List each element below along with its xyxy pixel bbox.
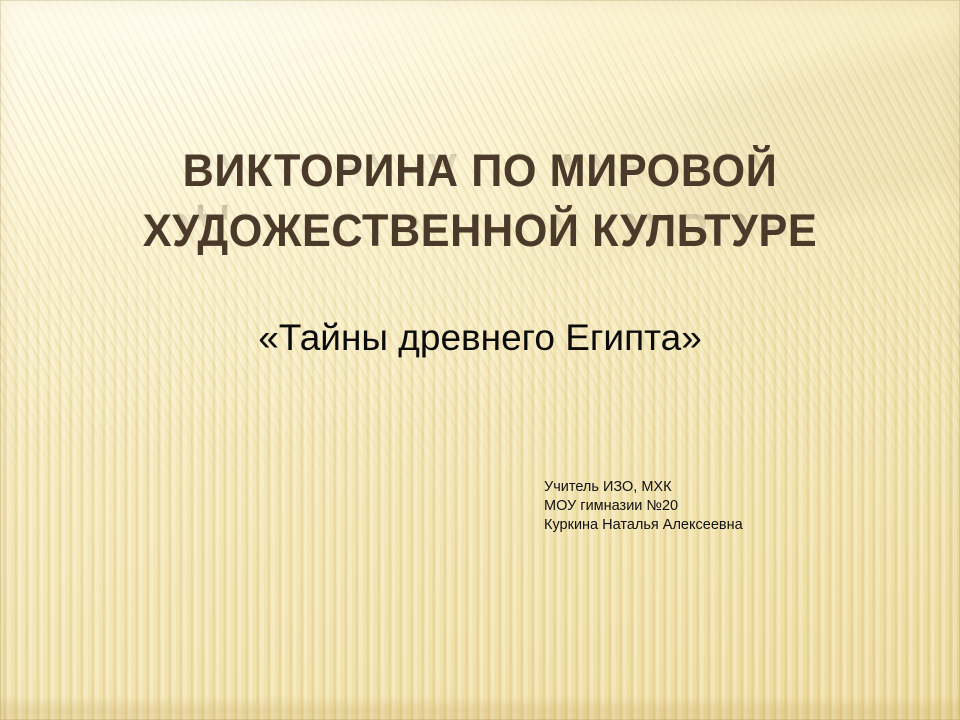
background-footer-band xyxy=(0,696,960,720)
slide-title: ВИКТОРИНА ПО МИРОВОЙ ВИКТОРИНА ПО МИРОВО… xyxy=(0,146,960,262)
credit-line-role: Учитель ИЗО, МХК xyxy=(544,478,743,497)
title-line-1-group: ВИКТОРИНА ПО МИРОВОЙ ВИКТОРИНА ПО МИРОВО… xyxy=(0,146,960,202)
slide-subtitle: «Тайны древнего Египта» xyxy=(0,315,960,361)
subtitle-text: «Тайны древнего Египта» xyxy=(0,315,960,361)
credit-line-institution: МОУ гимназии №20 xyxy=(544,497,743,516)
credit-line-author-name: Куркина Наталья Алексеевна xyxy=(544,516,743,535)
title-line-1: ВИКТОРИНА ПО МИРОВОЙ xyxy=(19,146,941,196)
author-credits-block: Учитель ИЗО, МХК МОУ гимназии №20 Куркин… xyxy=(544,478,743,535)
title-line-2: ХУДОЖЕСТВЕННОЙ КУЛЬТУРЕ xyxy=(19,206,941,256)
presentation-slide: ВИКТОРИНА ПО МИРОВОЙ ВИКТОРИНА ПО МИРОВО… xyxy=(0,0,960,720)
title-line-2-group: ХУДОЖЕСТВЕННОЙ КУЛЬТУРЕ ХУДОЖЕСТВЕННОЙ К… xyxy=(0,206,960,262)
